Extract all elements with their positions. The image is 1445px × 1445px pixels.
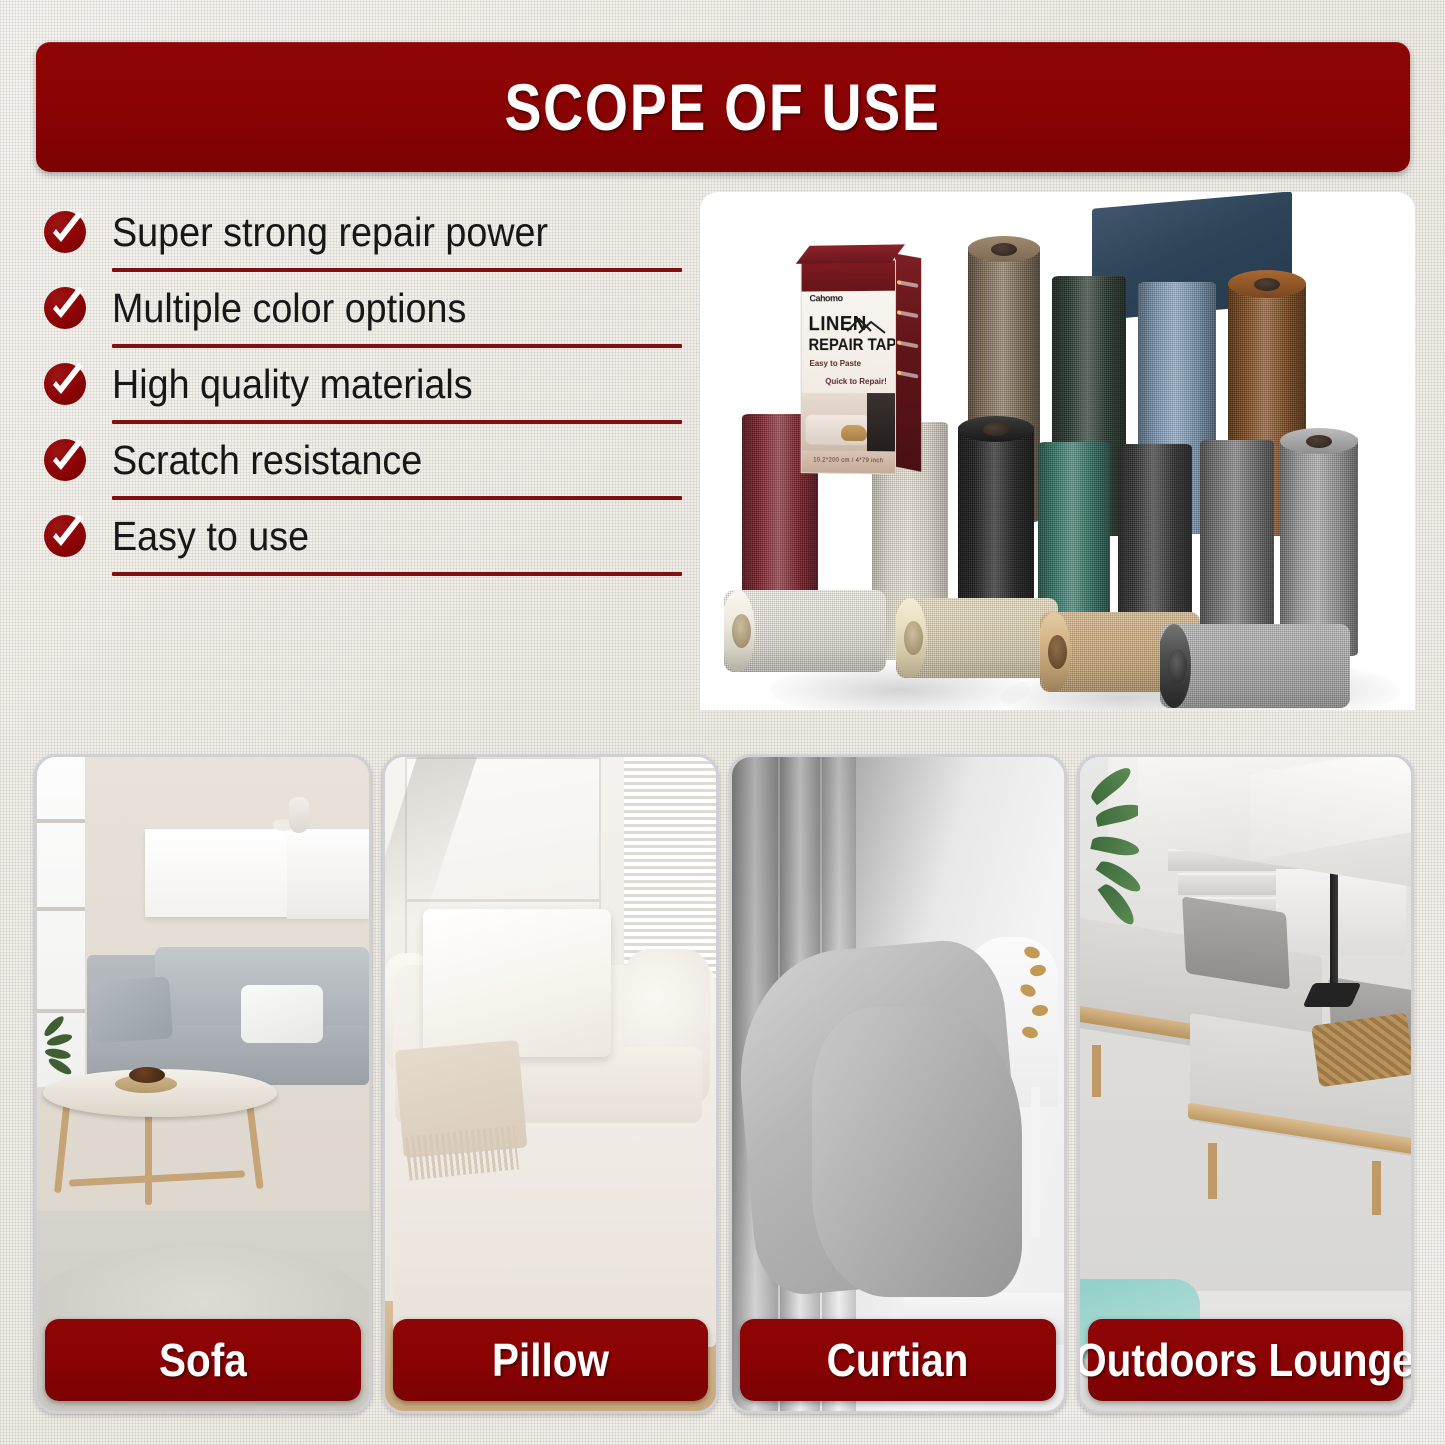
product-photo-card: Cahomo LINEN REPAIR TAPE Easy to Paste Q…: [700, 192, 1415, 710]
tape-roll-light-grey: [1280, 436, 1358, 656]
product-box-side: [895, 254, 921, 472]
scene-label: Curtian: [827, 1333, 969, 1387]
living-room-sofa-photo: [37, 757, 369, 1411]
scene-panel-curtain[interactable]: Curtian: [729, 754, 1067, 1414]
feature-divider: [112, 572, 682, 576]
feature-label: High quality materials: [112, 361, 473, 408]
tape-roll-black-top: [958, 416, 1034, 442]
feature-label: Easy to use: [112, 513, 309, 560]
brand-logo: Cahomo: [810, 293, 843, 303]
product-box-top: [796, 244, 905, 263]
product-box: Cahomo LINEN REPAIR TAPE Easy to Paste Q…: [801, 253, 921, 477]
feature-label: Multiple color options: [112, 285, 466, 332]
check-circle-icon: [42, 285, 88, 331]
check-circle-icon: [42, 513, 88, 559]
tape-roll-silver-grey-lying: [1160, 624, 1350, 708]
scene-label: Pillow: [492, 1333, 609, 1387]
feature-item: Easy to use: [42, 500, 682, 572]
scene-panel-outdoors-lounge[interactable]: Outdoors Lounge: [1077, 754, 1415, 1414]
product-subtitle-2: Quick to Repair!: [825, 377, 886, 386]
scene-label-chip: Pillow: [393, 1319, 709, 1401]
scene-label: Outdoors Lounge: [1077, 1333, 1415, 1387]
check-circle-icon: [42, 209, 88, 255]
tape-roll-brown-top: [1228, 270, 1306, 298]
product-box-photo: [802, 393, 895, 456]
page-title: SCOPE OF USE: [505, 69, 941, 145]
tape-roll-light-grey-top: [1280, 428, 1358, 454]
roof-line-icon: [845, 313, 887, 337]
feature-item: High quality materials: [42, 348, 682, 420]
product-size-text: 10.2*200 cm / 4*79 inch: [802, 450, 895, 473]
check-circle-icon: [42, 437, 88, 483]
scene-panel-grid: Sofa Pillow: [34, 754, 1414, 1414]
tape-roll-cream-lying: [896, 598, 1058, 678]
tape-roll-taupe-top: [968, 236, 1040, 262]
scope-of-use-banner: SCOPE OF USE: [36, 42, 1410, 172]
feature-item: Multiple color options: [42, 272, 682, 344]
product-title-line2: REPAIR TAPE: [809, 335, 896, 355]
feature-item: Scratch resistance: [42, 424, 682, 496]
tape-roll-white-lying: [724, 590, 886, 672]
scene-label-chip: Curtian: [740, 1319, 1056, 1401]
feature-list: Super strong repair power Multiple color…: [42, 196, 682, 576]
feature-label: Scratch resistance: [112, 437, 422, 484]
feature-label: Super strong repair power: [112, 209, 548, 256]
check-circle-icon: [42, 361, 88, 407]
feature-item: Super strong repair power: [42, 196, 682, 268]
grey-curtain-photo: [732, 757, 1064, 1411]
product-stage: Cahomo LINEN REPAIR TAPE Easy to Paste Q…: [700, 192, 1415, 710]
product-box-header-band: [802, 261, 895, 292]
scene-panel-sofa[interactable]: Sofa: [34, 754, 372, 1414]
scene-label: Sofa: [159, 1333, 247, 1387]
product-box-front: Cahomo LINEN REPAIR TAPE Easy to Paste Q…: [801, 260, 896, 475]
armchair-pillow-photo: [385, 757, 717, 1411]
scene-label-chip: Sofa: [45, 1319, 361, 1401]
scene-label-chip: Outdoors Lounge: [1088, 1319, 1404, 1401]
product-subtitle-1: Easy to Paste: [810, 359, 862, 368]
poolside-lounge-photo: [1080, 757, 1412, 1411]
scene-panel-pillow[interactable]: Pillow: [382, 754, 720, 1414]
